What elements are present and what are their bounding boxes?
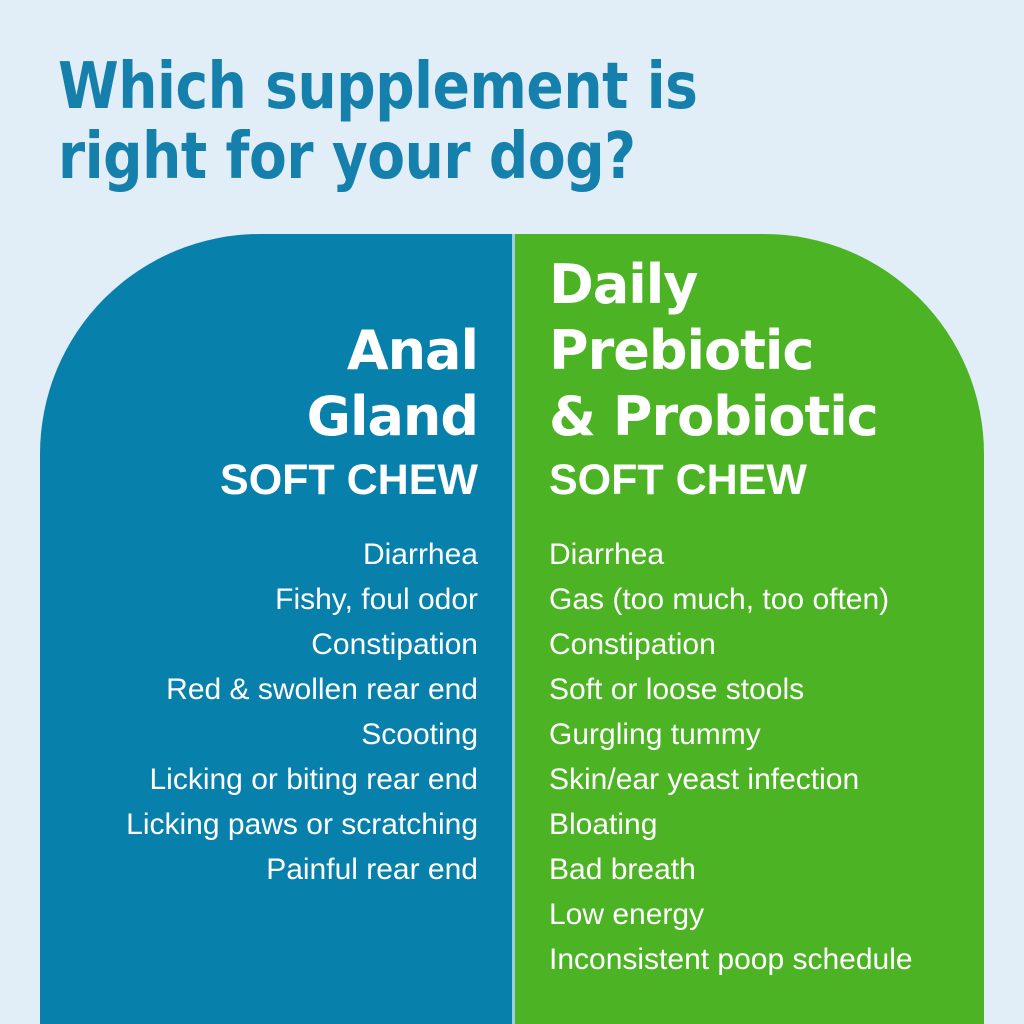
list-item: Soft or loose stools (549, 667, 960, 712)
list-item: Diarrhea (64, 532, 478, 577)
list-item: Licking or biting rear end (64, 757, 478, 802)
column-prebiotic-probiotic: Daily Prebiotic & Probiotic SOFT CHEW Di… (515, 234, 984, 1024)
list-item: Skin/ear yeast infection (549, 757, 960, 802)
column-anal-gland: Anal Gland SOFT CHEW Diarrhea Fishy, fou… (40, 234, 512, 1024)
list-item: Inconsistent poop schedule (549, 937, 960, 982)
heading-line: & Probiotic (549, 384, 960, 450)
list-item: Diarrhea (549, 532, 960, 577)
heading-line: Prebiotic (549, 318, 960, 384)
list-item: Scooting (64, 712, 478, 757)
list-item: Gas (too much, too often) (549, 577, 960, 622)
list-item: Low energy (549, 892, 960, 937)
column-prebiotic-probiotic-heading: Daily Prebiotic & Probiotic (549, 252, 960, 450)
page-title-line-2: right for your dog? (58, 122, 815, 192)
column-prebiotic-probiotic-symptom-list: Diarrhea Gas (too much, too often) Const… (549, 532, 960, 982)
heading-line: Anal (64, 318, 478, 384)
list-item: Gurgling tummy (549, 712, 960, 757)
list-item: Fishy, foul odor (64, 577, 478, 622)
list-item: Painful rear end (64, 847, 478, 892)
column-anal-gland-heading: Anal Gland (64, 318, 478, 450)
list-item: Red & swollen rear end (64, 667, 478, 712)
list-item: Bad breath (549, 847, 960, 892)
heading-line: Daily (549, 252, 960, 318)
list-item: Licking paws or scratching (64, 802, 478, 847)
column-anal-gland-subheading: SOFT CHEW (64, 452, 478, 508)
column-prebiotic-probiotic-symptom-list-wrap: Diarrhea Gas (too much, too often) Const… (549, 532, 960, 982)
heading-line: Gland (64, 384, 478, 450)
list-item: Bloating (549, 802, 960, 847)
column-anal-gland-symptom-list-wrap: Diarrhea Fishy, foul odor Constipation R… (64, 532, 478, 892)
list-item: Constipation (64, 622, 478, 667)
page-title-line-1: Which supplement is (58, 52, 815, 122)
page-title: Which supplement is right for your dog? (58, 52, 815, 192)
column-anal-gland-symptom-list: Diarrhea Fishy, foul odor Constipation R… (64, 532, 478, 892)
comparison-panels: Anal Gland SOFT CHEW Diarrhea Fishy, fou… (40, 234, 984, 1024)
infographic-poster: Which supplement is right for your dog? … (0, 0, 1024, 1024)
column-prebiotic-probiotic-subheading: SOFT CHEW (549, 452, 960, 508)
list-item: Constipation (549, 622, 960, 667)
